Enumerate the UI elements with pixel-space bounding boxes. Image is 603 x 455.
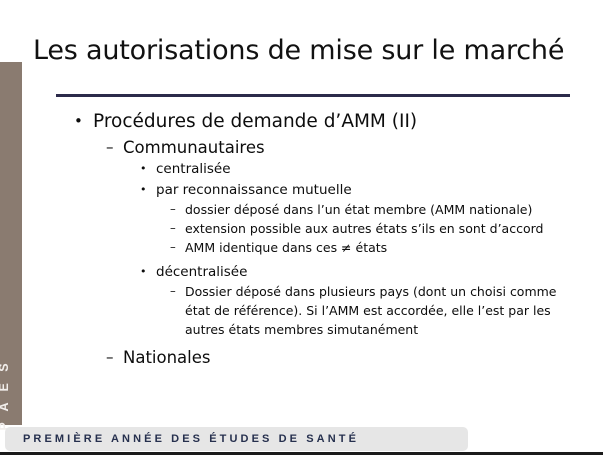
outline-item-level3: • par reconnaissance mutuelle (140, 181, 590, 201)
outline-item-text: dossier déposé dans l’un état membre (AM… (185, 201, 585, 220)
outline-item-text: Dossier déposé dans plusieurs pays (dont… (185, 283, 585, 339)
outline-item-level4: – AMM identique dans ces ≠ états (170, 239, 590, 258)
bullet-dash-icon: – (170, 283, 185, 300)
outline-item-level2: – Communautaires (106, 137, 590, 159)
bullet-dash-icon: – (106, 137, 123, 158)
slide-title: Les autorisations de mise sur le marché (33, 35, 578, 66)
slide-canvas: P A E S Les autorisations de mise sur le… (0, 0, 603, 455)
outline-item-text: AMM identique dans ces ≠ états (185, 239, 585, 258)
outline-item-text: Procédures de demande d’AMM (II) (93, 110, 590, 135)
footer-bar: PREMIÈRE ANNÉE DES ÉTUDES DE SANTÉ (5, 427, 468, 451)
bullet-dash-icon: – (170, 220, 185, 237)
footer-label: PREMIÈRE ANNÉE DES ÉTUDES DE SANTÉ (23, 433, 359, 445)
bullet-dot-icon: • (140, 181, 156, 198)
outline-body: • Procédures de demande d’AMM (II) – Com… (30, 110, 590, 371)
outline-item-text: par reconnaissance mutuelle (156, 181, 590, 201)
side-tab-paes: P A E S (0, 62, 22, 425)
outline-item-text: extension possible aux autres états s’il… (185, 220, 585, 239)
bullet-dash-icon: – (106, 347, 123, 368)
bullet-dash-icon: – (170, 201, 185, 218)
outline-item-text: Communautaires (123, 137, 590, 159)
outline-item-text: centralisée (156, 160, 590, 180)
bullet-dot-icon: • (140, 160, 156, 177)
outline-item-level1: • Procédures de demande d’AMM (II) (74, 110, 590, 135)
outline-item-text: Nationales (123, 347, 590, 369)
outline-item-level4: – dossier déposé dans l’un état membre (… (170, 201, 590, 220)
outline-item-level3: • décentralisée (140, 263, 590, 283)
outline-item-level2: – Nationales (106, 347, 590, 369)
outline-item-level4: – Dossier déposé dans plusieurs pays (do… (170, 283, 590, 339)
bullet-dash-icon: – (170, 239, 185, 256)
outline-item-level4: – extension possible aux autres états s’… (170, 220, 590, 239)
outline-item-level3: • centralisée (140, 160, 590, 180)
outline-item-text: décentralisée (156, 263, 590, 283)
side-tab-label: P A E S (0, 359, 11, 430)
bullet-dot-icon: • (74, 110, 93, 133)
bullet-dot-icon: • (140, 263, 156, 280)
title-underline-rule (56, 94, 570, 97)
